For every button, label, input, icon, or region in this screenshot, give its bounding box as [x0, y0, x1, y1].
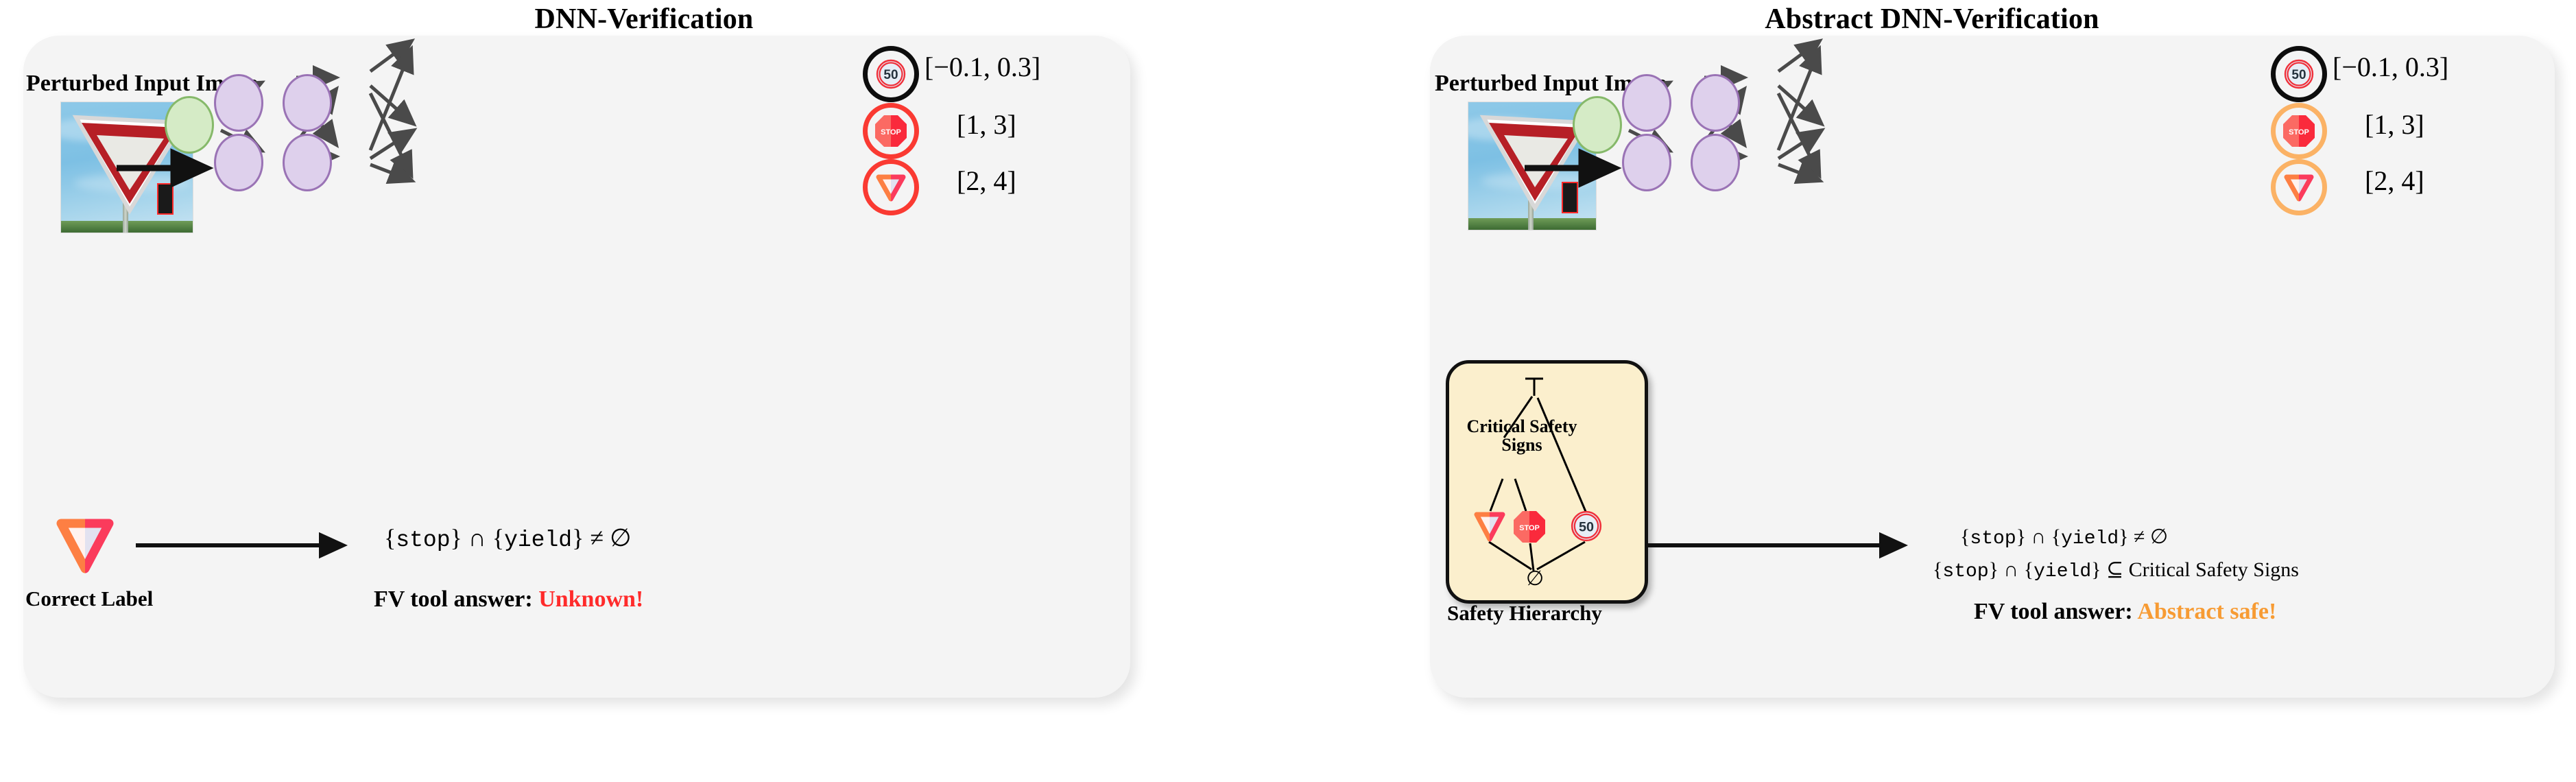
speed-limit-50-sign-icon: 50 [874, 58, 907, 91]
safety-hierarchy-edges [1449, 364, 1645, 600]
output-node-yield-right [2271, 159, 2327, 215]
set-brace-close-1: } [451, 524, 462, 552]
stop-word-3: stop [1942, 561, 1988, 582]
correct-label-caption-left: Correct Label [25, 586, 153, 611]
svg-text:STOP: STOP [1519, 524, 1540, 532]
set-brace-close-5: } [1989, 558, 1999, 581]
conclusion-arrow-left [136, 532, 369, 559]
network-hidden-node-l1-a-right [1622, 74, 1671, 132]
output-interval-stop-right: [1, 3] [2365, 108, 2424, 141]
output-node-stop-right: STOP [2271, 103, 2327, 159]
fv-answer-prefix-left: FV tool answer: [374, 586, 533, 612]
svg-text:50: 50 [883, 68, 898, 82]
network-hidden-node-l2-a-right [1691, 74, 1740, 132]
hierarchy-speed-limit-50-sign-icon: 50 [1569, 509, 1603, 543]
network-input-node-left [165, 96, 214, 154]
critical-safety-signs-text: Critical Safety Signs [2129, 558, 2299, 581]
svg-text:50: 50 [2291, 68, 2306, 82]
set-brace-open-2: { [492, 524, 504, 552]
fv-answer-right: FV tool answer: Abstract safe! [1974, 599, 2276, 625]
svg-text:50: 50 [1579, 519, 1594, 534]
stop-sign-icon: STOP [2282, 114, 2316, 148]
not-equal-empty-2: ≠ ∅ [2134, 525, 2168, 548]
panel-abstract-dnn-verification: Abstract DNN-Verification Perturbed Inpu… [1288, 0, 2576, 782]
yield-word-3: yield [2034, 561, 2091, 582]
fv-answer-value-right: Abstract safe! [2137, 599, 2276, 624]
output-interval-yield-left: [2, 4] [957, 165, 1016, 197]
safety-hierarchy-caption: Safety Hierarchy [1447, 601, 1602, 626]
set-brace-open-6: { [2024, 558, 2034, 581]
fv-answer-left: FV tool answer: Unknown! [374, 586, 643, 613]
stop-word-1: stop [396, 528, 450, 553]
network-hidden-node-l2-a-left [283, 74, 332, 132]
intersection-symbol-2: ∩ [2031, 525, 2047, 548]
subseteq-symbol: ⊆ [2106, 558, 2123, 581]
fv-answer-value-left: Unknown! [538, 586, 643, 612]
output-interval-speed-limit-right: [−0.1, 0.3] [2333, 51, 2448, 83]
stop-sign-icon: STOP [874, 114, 908, 148]
output-node-stop-left: STOP [863, 103, 919, 159]
output-interval-speed-limit-left: [−0.1, 0.3] [925, 51, 1040, 83]
network-hidden-node-l2-b-right [1691, 134, 1740, 191]
set-brace-open-1: { [384, 524, 396, 552]
output-interval-yield-right: [2, 4] [2365, 165, 2424, 197]
panel-dnn-verification: DNN-Verification Perturbed Input Image [0, 0, 1288, 782]
hierarchy-bottom-symbol: ∅ [1526, 567, 1544, 591]
yield-word-1: yield [504, 528, 572, 553]
output-node-yield-left [863, 159, 919, 215]
output-node-speed-limit-left: 50 [863, 46, 919, 102]
network-hidden-node-l2-b-left [283, 134, 332, 191]
intersection-symbol-1: ∩ [468, 524, 486, 552]
formula-left: {stop} ∩ {yield} ≠ ∅ [384, 523, 632, 553]
hierarchy-yield-sign-icon [1472, 510, 1507, 543]
set-brace-close-2: } [572, 524, 584, 552]
yield-sign-icon [2282, 172, 2315, 202]
yield-word-2: yield [2061, 528, 2119, 549]
set-brace-open-4: { [2051, 525, 2061, 548]
svg-text:STOP: STOP [2289, 128, 2309, 137]
fv-answer-prefix-right: FV tool answer: [1974, 599, 2133, 624]
intersection-symbol-3: ∩ [2004, 558, 2019, 581]
output-interval-stop-left: [1, 3] [957, 108, 1016, 141]
set-brace-close-4: } [2119, 525, 2128, 548]
hierarchy-group-label-line1: Critical Safety [1453, 417, 1590, 436]
stop-word-2: stop [1970, 528, 2016, 549]
set-brace-open-3: { [1960, 525, 1970, 548]
formula-right-line1: {stop} ∩ {yield} ≠ ∅ [1960, 525, 2168, 549]
safety-hierarchy-box: Critical Safety Signs [1446, 360, 1648, 604]
formula-right-line2: {stop} ∩ {yield} ⊆ Critical Safety Signs [1933, 558, 2299, 582]
svg-text:STOP: STOP [881, 128, 901, 137]
set-brace-close-6: } [2091, 558, 2101, 581]
network-input-node-right [1573, 96, 1622, 154]
speed-limit-50-sign-icon: 50 [2282, 58, 2315, 91]
network-hidden-node-l1-b-right [1622, 134, 1671, 191]
not-equal-empty-1: ≠ ∅ [590, 524, 631, 552]
network-hidden-node-l1-b-left [214, 134, 263, 191]
yield-sign-icon [874, 172, 907, 202]
hierarchy-group-label-line2: Signs [1453, 436, 1590, 454]
hierarchy-group-label: Critical Safety Signs [1453, 417, 1590, 455]
hierarchy-stop-sign-icon: STOP [1512, 510, 1547, 544]
correct-label-yield-icon-left [53, 517, 117, 576]
set-brace-close-3: } [2016, 525, 2026, 548]
output-node-speed-limit-right: 50 [2271, 46, 2327, 102]
network-hidden-node-l1-a-left [214, 74, 263, 132]
set-brace-open-5: { [1933, 558, 1942, 581]
conclusion-arrow-right [1645, 532, 1933, 559]
